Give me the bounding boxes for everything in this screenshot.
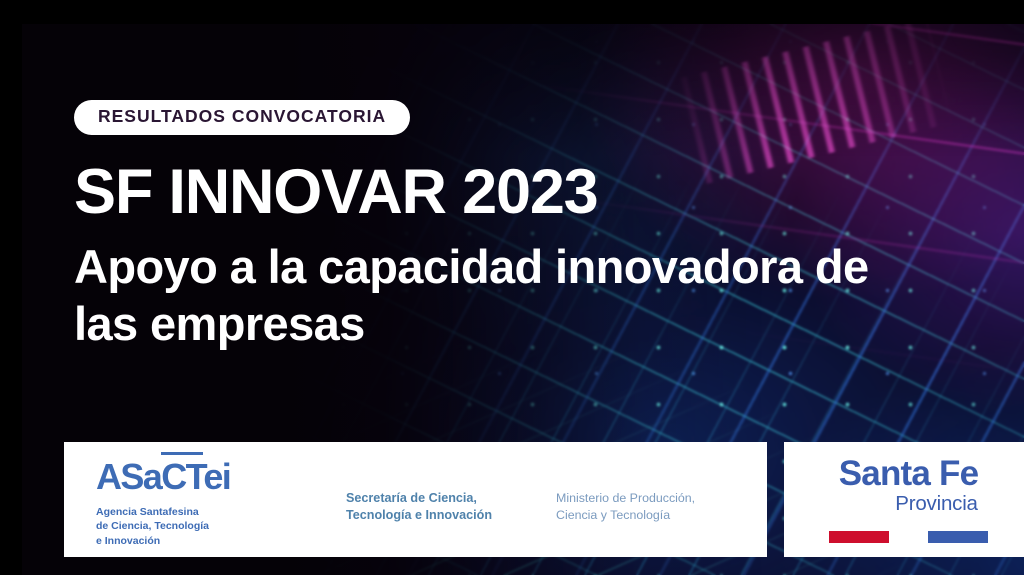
santa-fe-logo: Santa Fe Provincia (784, 456, 1024, 543)
secretaria-label: Secretaría de Ciencia, Tecnología e Inno… (346, 490, 492, 524)
asactei-wordmark-part3: ei (203, 456, 230, 497)
page-subtitle: Apoyo a la capacidad innovadora de las e… (74, 238, 904, 353)
ministerio-label: Ministerio de Producción, Ciencia y Tecn… (556, 490, 695, 523)
flag-bar-blue (928, 531, 988, 543)
santa-fe-provincia-label: Provincia (784, 494, 1024, 515)
asactei-logo: ASaCTei Agencia Santafesina de Ciencia, … (96, 459, 230, 548)
headline-block: RESULTADOS CONVOCATORIA SF INNOVAR 2023 … (74, 100, 914, 352)
page-title: SF INNOVAR 2023 (74, 161, 914, 224)
asactei-wordmark-part1: ASa (96, 456, 161, 497)
asactei-wordmark: ASaCTei (96, 459, 230, 495)
footer-logo-panel: ASaCTei Agencia Santafesina de Ciencia, … (64, 442, 767, 557)
asactei-tagline: Agencia Santafesina de Ciencia, Tecnolog… (96, 505, 230, 548)
santa-fe-wordmark: Santa Fe (784, 456, 1024, 491)
slide-canvas: RESULTADOS CONVOCATORIA SF INNOVAR 2023 … (0, 0, 1024, 575)
artboard: RESULTADOS CONVOCATORIA SF INNOVAR 2023 … (22, 24, 1024, 575)
santa-fe-flag-bars (784, 531, 1024, 543)
results-badge: RESULTADOS CONVOCATORIA (74, 100, 410, 135)
flag-bar-red (829, 531, 889, 543)
santa-fe-logo-panel: Santa Fe Provincia (784, 442, 1024, 557)
asactei-wordmark-ct-ligature: CT (161, 452, 203, 497)
